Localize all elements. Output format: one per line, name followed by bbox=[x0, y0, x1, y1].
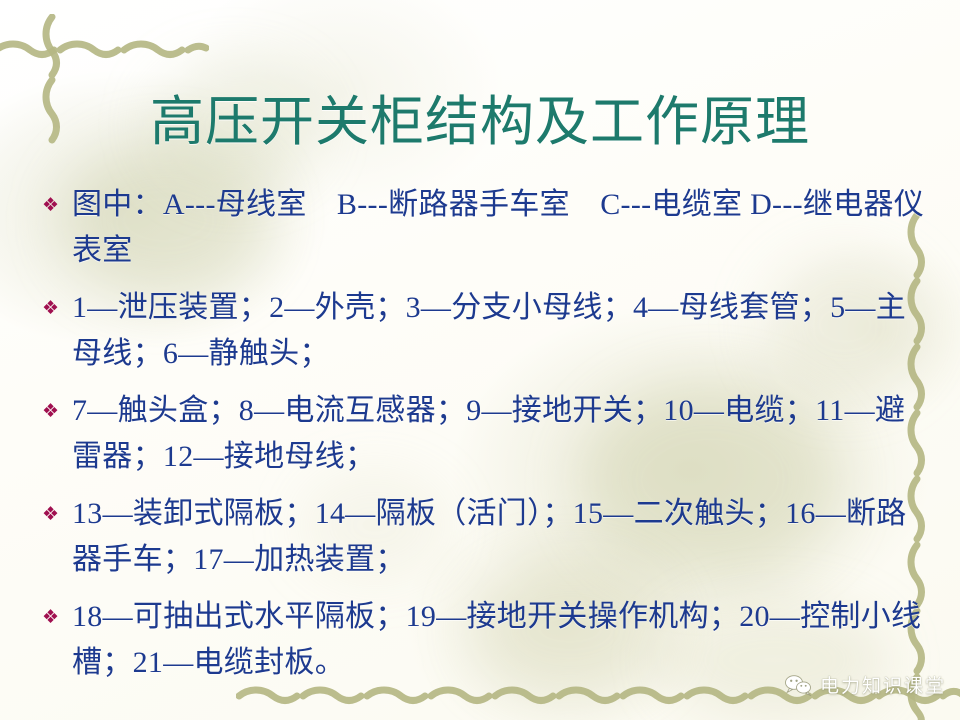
bullet-diamond-icon: ❖ bbox=[38, 182, 72, 228]
list-item-text: 图中：A---母线室 B---断路器手车室 C---电缆室 D---继电器仪表室 bbox=[72, 182, 928, 274]
list-item-text: 1—泄压装置；2—外壳；3—分支小母线；4—母线套管；5—主母线；6—静触头； bbox=[72, 285, 928, 377]
ornament-branch-top-left bbox=[0, 34, 209, 64]
list-item-text: 18—可抽出式水平隔板；19—接地开关操作机构；20—控制小线槽；21—电缆封板… bbox=[72, 594, 928, 686]
list-item: ❖ 13—装卸式隔板；14—隔板（活门）；15—二次触头；16—断路器手车；17… bbox=[38, 491, 928, 583]
list-item: ❖ 7—触头盒；8—电流互感器；9—接地开关；10—电缆；11—避雷器；12—接… bbox=[38, 388, 928, 480]
bullet-list: ❖ 图中：A---母线室 B---断路器手车室 C---电缆室 D---继电器仪… bbox=[38, 182, 928, 697]
bullet-diamond-icon: ❖ bbox=[38, 388, 72, 434]
slide-canvas: 高压开关柜结构及工作原理 ❖ 图中：A---母线室 B---断路器手车室 C--… bbox=[0, 0, 960, 720]
list-item: ❖ 图中：A---母线室 B---断路器手车室 C---电缆室 D---继电器仪… bbox=[38, 182, 928, 274]
bullet-diamond-icon: ❖ bbox=[38, 594, 72, 640]
list-item: ❖ 1—泄压装置；2—外壳；3—分支小母线；4—母线套管；5—主母线；6—静触头… bbox=[38, 285, 928, 377]
bullet-diamond-icon: ❖ bbox=[38, 285, 72, 331]
list-item: ❖ 18—可抽出式水平隔板；19—接地开关操作机构；20—控制小线槽；21—电缆… bbox=[38, 594, 928, 686]
slide-title: 高压开关柜结构及工作原理 bbox=[0, 92, 960, 152]
bullet-diamond-icon: ❖ bbox=[38, 491, 72, 537]
list-item-text: 7—触头盒；8—电流互感器；9—接地开关；10—电缆；11—避雷器；12—接地母… bbox=[72, 388, 928, 480]
list-item-text: 13—装卸式隔板；14—隔板（活门）；15—二次触头；16—断路器手车；17—加… bbox=[72, 491, 928, 583]
